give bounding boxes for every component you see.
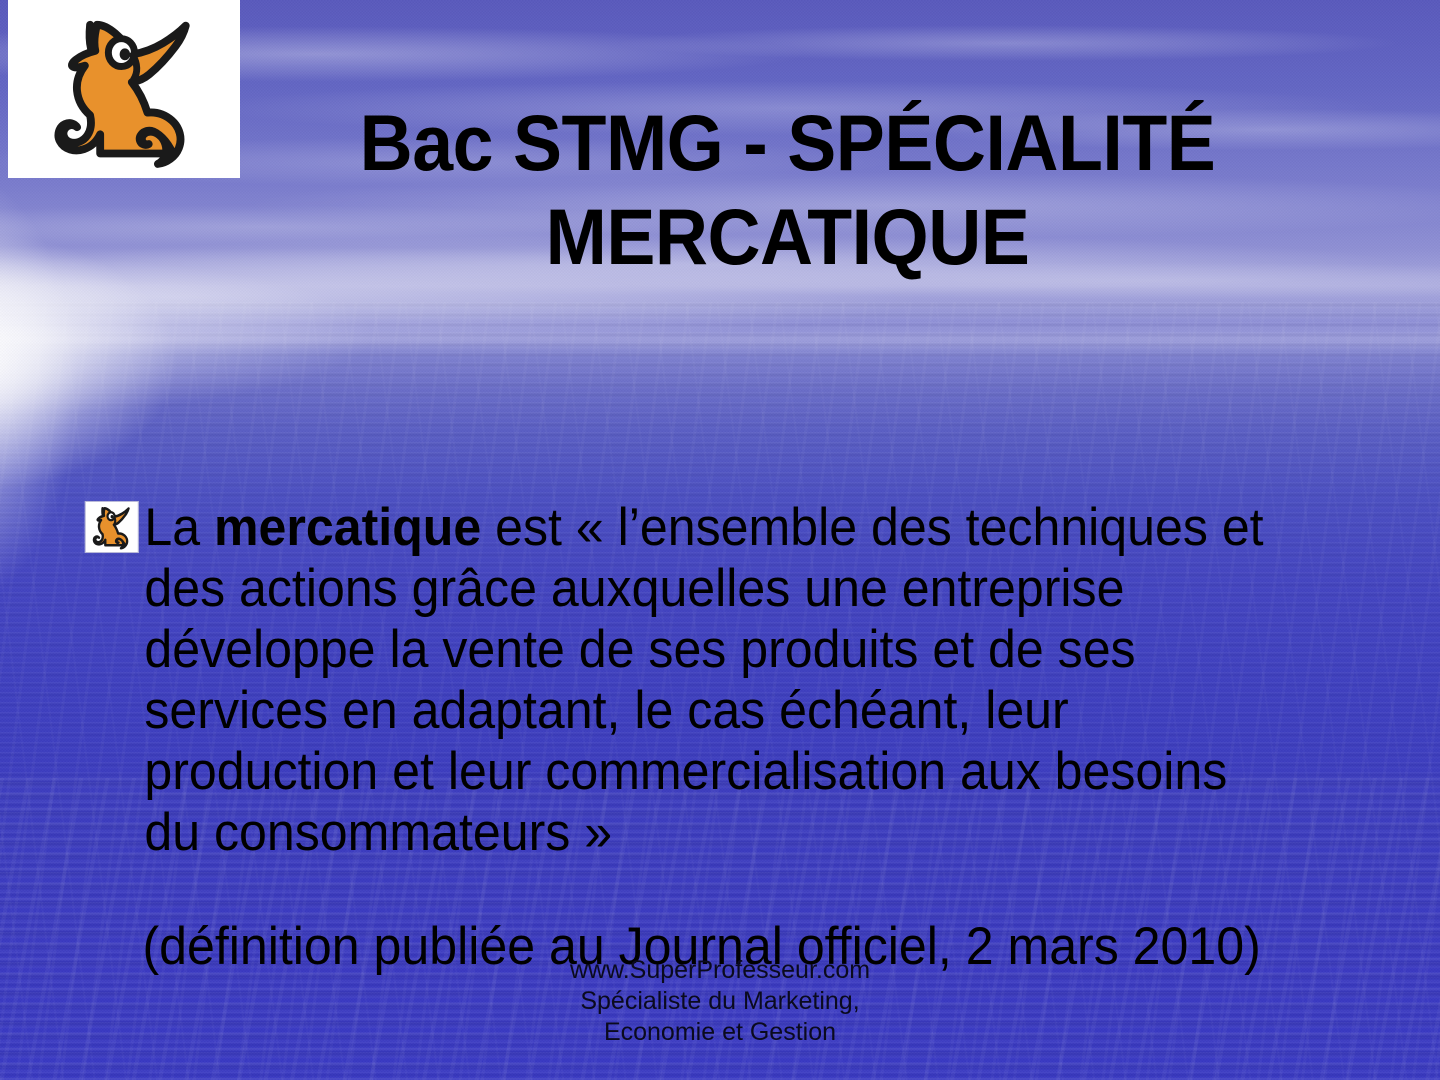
body-paragraph-definition: La mercatique est « l’ensemble des techn… xyxy=(82,497,1273,863)
orange-cat-bullet-icon xyxy=(85,501,139,553)
logo-card xyxy=(8,0,240,178)
definition-text-prefix: La xyxy=(144,498,214,557)
orange-cat-logo-icon xyxy=(34,10,214,170)
presentation-slide: Bac STMG - SPÉCIALITÉ MERCATIQUE La merc… xyxy=(0,0,1440,1080)
slide-title: Bac STMG - SPÉCIALITÉ MERCATIQUE xyxy=(288,96,1288,284)
footer-credit: www.SuperProfesseur.com Spécialiste du M… xyxy=(0,955,1440,1048)
definition-keyword: mercatique xyxy=(214,498,481,557)
slide-body: La mercatique est « l’ensemble des techn… xyxy=(82,444,1342,1030)
